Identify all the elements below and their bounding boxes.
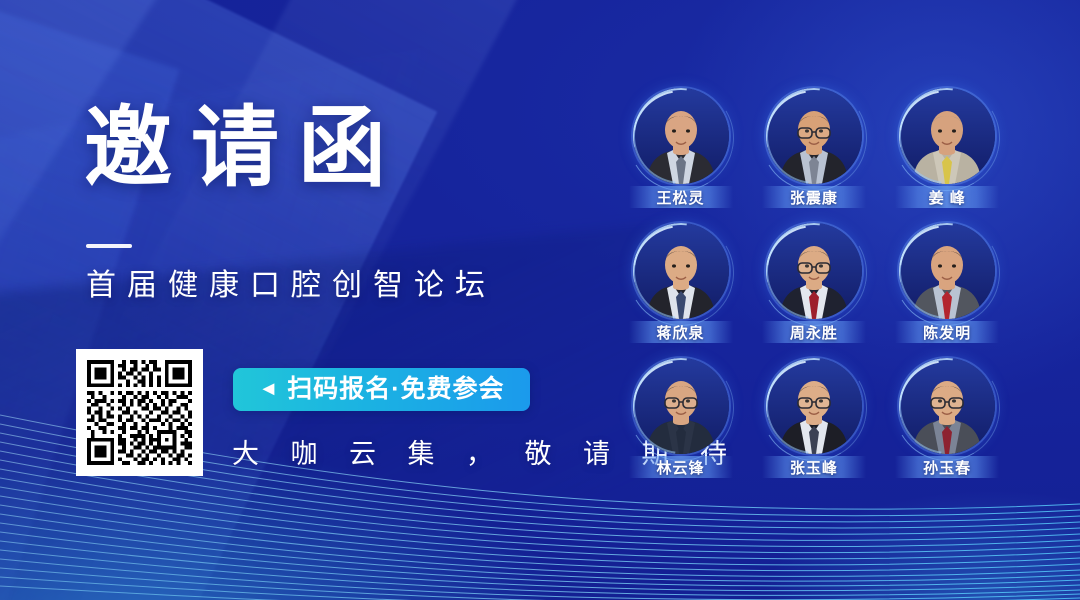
speaker-avatar-ring <box>633 88 729 184</box>
speaker-portrait <box>899 358 995 454</box>
speaker-avatar-ring <box>633 223 729 319</box>
speaker-name: 蒋欣泉 <box>629 321 733 343</box>
speaker-ring-highlight <box>766 88 862 184</box>
speaker-card[interactable]: 蒋欣泉 <box>614 223 747 358</box>
invitation-poster: 邀请函 首届健康口腔创智论坛 <box>0 0 1080 600</box>
speaker-portrait <box>633 223 729 319</box>
speaker-avatar-ring <box>766 223 862 319</box>
speaker-ring-highlight <box>633 358 729 454</box>
speaker-portrait <box>899 88 995 184</box>
speaker-ring-highlight <box>633 223 729 319</box>
speaker-portrait <box>899 223 995 319</box>
speaker-grid: 王松灵 <box>614 88 1014 493</box>
speaker-avatar-ring <box>633 358 729 454</box>
speaker-card[interactable]: 陈发明 <box>881 223 1014 358</box>
speaker-ring-highlight <box>766 223 862 319</box>
speaker-name: 周永胜 <box>762 321 866 343</box>
speaker-name: 姜 峰 <box>895 186 999 208</box>
speaker-name: 王松灵 <box>629 186 733 208</box>
speaker-ring-highlight <box>766 358 862 454</box>
qr-code-image <box>83 356 196 469</box>
speaker-portrait <box>633 88 729 184</box>
speaker-card[interactable]: 孙玉春 <box>881 358 1014 493</box>
speaker-ring-highlight <box>899 223 995 319</box>
speaker-name: 陈发明 <box>895 321 999 343</box>
speaker-card[interactable]: 周永胜 <box>747 223 880 358</box>
speaker-avatar-ring <box>899 88 995 184</box>
scan-register-button[interactable]: ◄ 扫码报名·免费参会 <box>233 368 530 411</box>
speaker-portrait <box>766 358 862 454</box>
subtitle: 首届健康口腔创智论坛 <box>86 268 496 304</box>
speaker-avatar-ring <box>766 358 862 454</box>
speaker-portrait <box>766 88 862 184</box>
title-divider <box>86 244 132 248</box>
speaker-card[interactable]: 张玉峰 <box>747 358 880 493</box>
speaker-avatar-ring <box>766 88 862 184</box>
speaker-name: 张玉峰 <box>762 456 866 478</box>
speaker-ring-highlight <box>899 88 995 184</box>
speaker-avatar-ring <box>899 223 995 319</box>
qr-code[interactable] <box>76 349 203 476</box>
speaker-card[interactable]: 张震康 <box>747 88 880 223</box>
speaker-name: 林云锋 <box>629 456 733 478</box>
speaker-avatar-ring <box>899 358 995 454</box>
speaker-name: 张震康 <box>762 186 866 208</box>
speaker-card[interactable]: 王松灵 <box>614 88 747 223</box>
speaker-name: 孙玉春 <box>895 456 999 478</box>
speaker-card[interactable]: 姜 峰 <box>881 88 1014 223</box>
speaker-portrait <box>633 358 729 454</box>
speaker-ring-highlight <box>633 88 729 184</box>
scan-register-label: 扫码报名·免费参会 <box>287 377 504 402</box>
left-content: 邀请函 首届健康口腔创智论坛 <box>0 0 600 600</box>
speaker-ring-highlight <box>899 358 995 454</box>
speaker-card[interactable]: 林云锋 <box>614 358 747 493</box>
page-title: 邀请函 <box>84 104 405 192</box>
left-arrow-icon: ◄ <box>258 379 278 399</box>
speaker-portrait <box>766 223 862 319</box>
